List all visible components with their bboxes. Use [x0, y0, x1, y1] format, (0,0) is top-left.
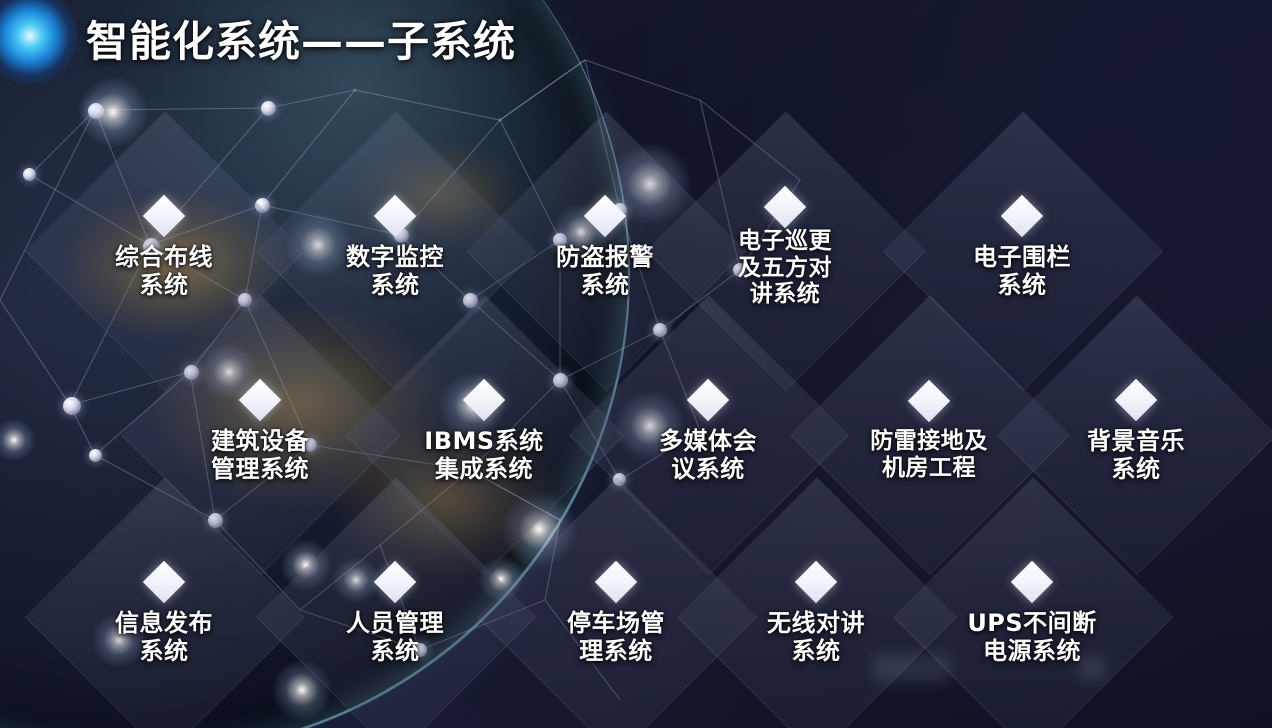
subsystem-label: 综合布线 系统: [115, 243, 213, 300]
subsystem-label: 建筑设备 管理系统: [211, 427, 309, 484]
diamond-marker-icon: [1011, 560, 1053, 602]
diamond-marker-icon: [374, 194, 416, 236]
subsystem-tile[interactable]: 人员管理 系统: [297, 518, 493, 714]
diamond-marker-icon: [143, 194, 185, 236]
subsystem-label: 防雷接地及 机房工程: [870, 428, 988, 481]
subsystem-label: 多媒体会 议系统: [659, 427, 757, 484]
subsystem-label: 电子巡更 及五方对 讲系统: [738, 228, 832, 308]
subsystem-tile[interactable]: 无线对讲 系统: [718, 518, 914, 714]
diamond-marker-icon: [143, 560, 185, 602]
diamond-marker-icon: [687, 378, 729, 420]
subsystem-label: 无线对讲 系统: [767, 609, 865, 666]
diamond-marker-icon: [374, 560, 416, 602]
subsystem-label: 数字监控 系统: [346, 243, 444, 300]
diamond-marker-icon: [764, 186, 806, 228]
diamond-marker-icon: [795, 560, 837, 602]
subsystem-tile[interactable]: 综合布线 系统: [66, 152, 262, 348]
subsystem-grid: 综合布线 系统 数字监控 系统 防盗报警 系统 电子巡更 及五方对 讲系统: [0, 0, 1272, 728]
subsystem-label: 信息发布 系统: [115, 609, 213, 666]
diamond-marker-icon: [1001, 194, 1043, 236]
subsystem-label: 背景音乐 系统: [1087, 427, 1185, 484]
subsystem-label: 人员管理 系统: [346, 609, 444, 666]
subsystem-label: 电子围栏 系统: [973, 243, 1071, 300]
diamond-marker-icon: [239, 378, 281, 420]
subsystem-label: IBMS系统 集成系统: [424, 427, 543, 484]
slide-canvas: 智能化系统——子系统 综合布线 系统 数字监控 系统 防盗报警 系统: [0, 0, 1272, 728]
subsystem-tile[interactable]: 背景音乐 系统: [1038, 336, 1234, 532]
watermark-smudge: [872, 654, 950, 682]
diamond-marker-icon: [463, 378, 505, 420]
page-title: 智能化系统——子系统: [86, 8, 516, 69]
subsystem-tile[interactable]: 信息发布 系统: [66, 518, 262, 714]
subsystem-label: 防盗报警 系统: [556, 243, 654, 300]
diamond-marker-icon: [908, 380, 950, 422]
diamond-marker-icon: [595, 560, 637, 602]
diamond-marker-icon: [1115, 378, 1157, 420]
watermark-smudge: [1078, 656, 1106, 680]
diamond-marker-icon: [584, 194, 626, 236]
subsystem-tile[interactable]: UPS不间断 电源系统: [934, 518, 1130, 714]
subsystem-label: 停车场管 理系统: [567, 609, 665, 666]
